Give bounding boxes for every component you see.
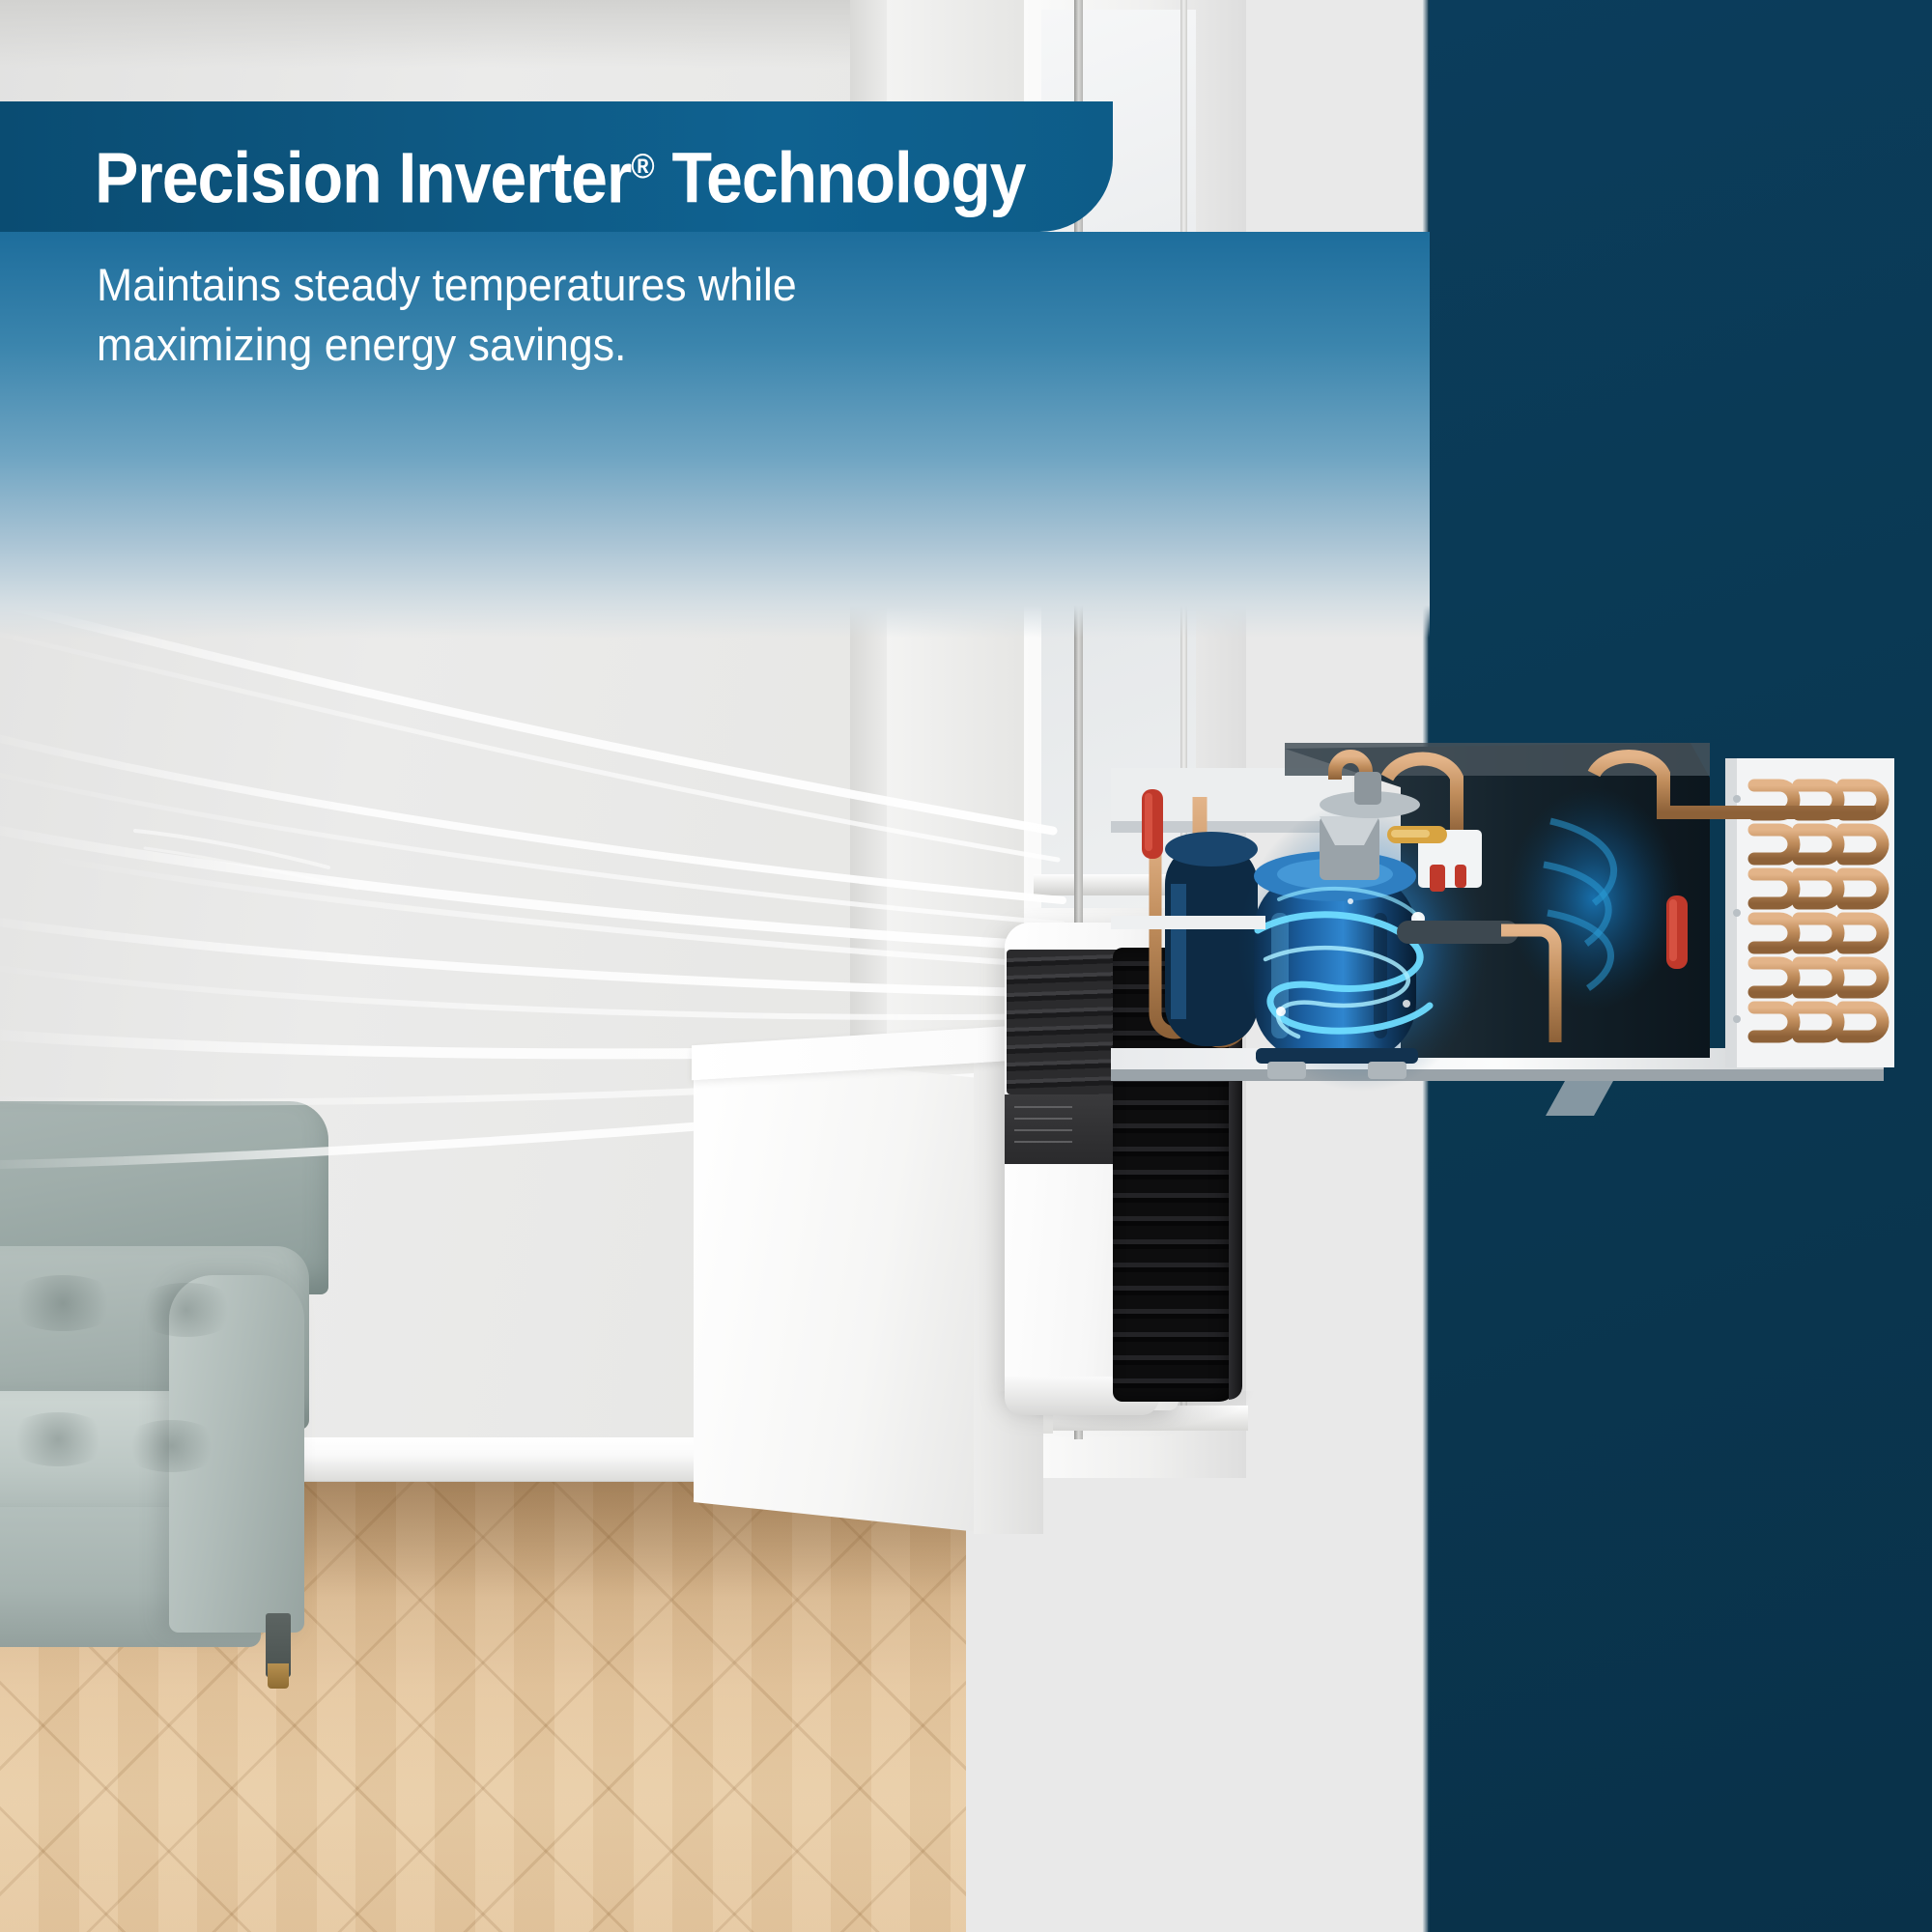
headline-text-part2: Technology (655, 138, 1026, 218)
ceiling-shadow (0, 0, 966, 68)
sofa-leg (266, 1613, 291, 1677)
page-title: Precision Inverter® Technology (95, 120, 1025, 225)
compressor-cutaway (1111, 729, 1932, 1116)
marketing-image: Precision Inverter® Technology Maintains… (0, 0, 1932, 1932)
sofa-tuft (5, 1275, 121, 1331)
console-front (694, 1048, 983, 1533)
sofa-tuft (5, 1412, 111, 1466)
sofa-tuft (121, 1420, 222, 1472)
registered-trademark-icon: ® (631, 146, 654, 185)
subtitle: Maintains steady temperatures while maxi… (97, 255, 797, 375)
ac-display-icons (1014, 1106, 1072, 1151)
sofa (0, 1101, 406, 1642)
headline-text-part1: Precision Inverter (95, 138, 631, 218)
subtitle-line-1: Maintains steady temperatures while (97, 255, 797, 315)
sofa-tuft (133, 1283, 240, 1337)
subtitle-line-2: maximizing energy savings. (97, 315, 797, 375)
